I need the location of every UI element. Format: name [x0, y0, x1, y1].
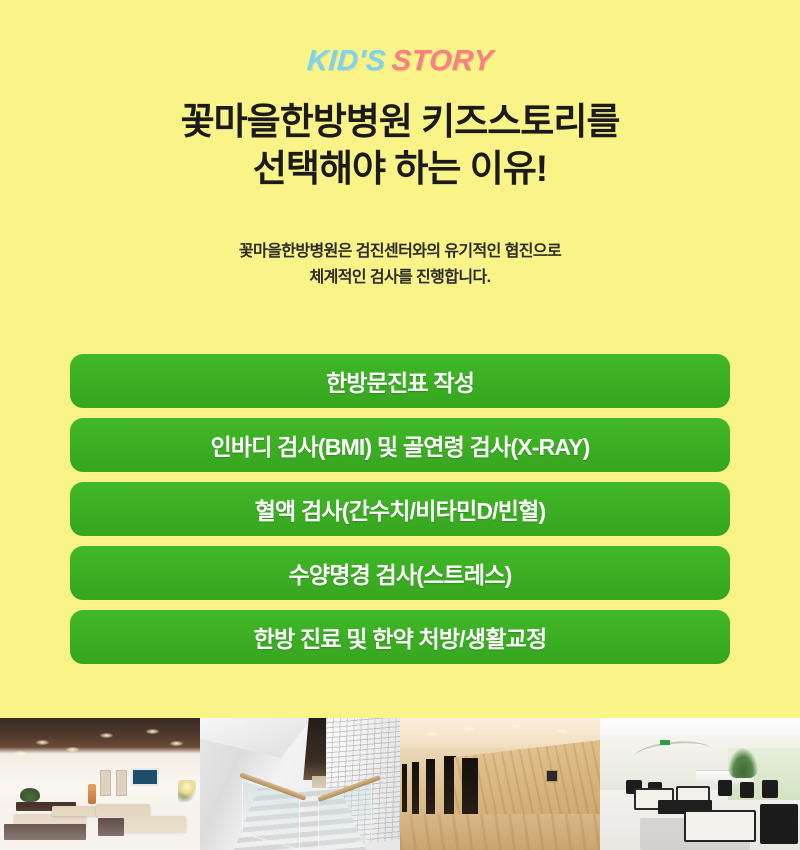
service-step-label: 수양명경 검사(스트레스) [289, 556, 512, 590]
brand-logo-kids: KID'S [306, 45, 387, 77]
page-subtitle-line-1: 꽃마을한방병원은 검진센터와의 유기적인 협진으로 [0, 239, 800, 265]
page-subtitle-line-2: 체계적인 검사를 진행합니다. [0, 265, 800, 291]
promo-page: KID'SSTORY 꽃마을한방병원 키즈스토리를 선택해야 하는 이유! 꽃마… [0, 0, 800, 850]
lounge-photo [600, 718, 800, 850]
service-step-label: 한방문진표 작성 [326, 364, 474, 398]
service-step-item-5[interactable]: 한방 진료 및 한약 처방/생활교정 [70, 610, 730, 664]
page-title-line-1: 꽃마을한방병원 키즈스토리를 [0, 99, 800, 146]
page-title: 꽃마을한방병원 키즈스토리를 선택해야 하는 이유! [0, 99, 800, 193]
exit-sign [660, 740, 670, 745]
hospital-lobby-photo [0, 718, 200, 850]
page-subtitle: 꽃마을한방병원은 검진센터와의 유기적인 협진으로 체계적인 검사를 진행합니다… [0, 239, 800, 292]
service-step-label: 인바디 검사(BMI) 및 골연령 검사(X-RAY) [211, 428, 590, 462]
service-step-item-2[interactable]: 인바디 검사(BMI) 및 골연령 검사(X-RAY) [70, 418, 730, 472]
service-step-item-1[interactable]: 한방문진표 작성 [70, 354, 730, 408]
brand-logo: KID'SSTORY [0, 47, 800, 87]
facility-photo-strip [0, 718, 800, 850]
staircase-photo [200, 718, 400, 850]
lobby-monitor [131, 768, 159, 786]
service-step-label: 혈액 검사(간수치/비타민D/빈혈) [255, 492, 546, 526]
page-title-line-2: 선택해야 하는 이유! [0, 146, 800, 193]
service-step-item-3[interactable]: 혈액 검사(간수치/비타민D/빈혈) [70, 482, 730, 536]
service-step-item-4[interactable]: 수양명경 검사(스트레스) [70, 546, 730, 600]
service-step-label: 한방 진료 및 한약 처방/생활교정 [254, 620, 547, 654]
service-step-list: 한방문진표 작성 인바디 검사(BMI) 및 골연령 검사(X-RAY) 혈액 … [0, 354, 800, 664]
brand-logo-story: STORY [391, 45, 495, 77]
elevator-corridor-photo [400, 718, 600, 850]
